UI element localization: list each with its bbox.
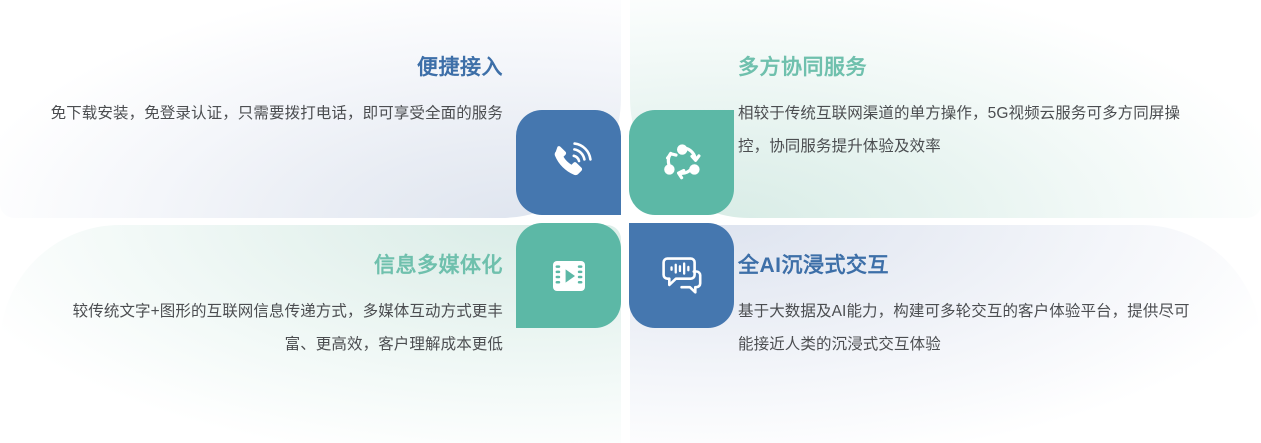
feature-description: 相较于传统互联网渠道的单方操作，5G视频云服务可多方同屏操控，协同服务提升体验及…: [738, 97, 1193, 163]
feature-description: 较传统文字+图形的互联网信息传递方式，多媒体互动方式更丰富、更高效，客户理解成本…: [48, 295, 503, 361]
feature-title: 全AI沉浸式交互: [738, 255, 1193, 276]
feature-text-multiparty-collaboration: 多方协同服务 相较于传统互联网渠道的单方操作，5G视频云服务可多方同屏操控，协同…: [738, 57, 1193, 163]
phone-call-icon: [543, 137, 595, 189]
feature-description: 基于大数据及AI能力，构建可多轮交互的客户体验平台，提供尽可能接近人类的沉浸式交…: [738, 295, 1193, 361]
feature-text-full-ai-immersive: 全AI沉浸式交互 基于大数据及AI能力，构建可多轮交互的客户体验平台，提供尽可能…: [738, 255, 1193, 361]
video-play-icon: [544, 251, 594, 301]
feature-title: 多方协同服务: [738, 57, 1193, 78]
feature-text-convenient-access: 便捷接入 免下载安装，免登录认证，只需要拨打电话，即可享受全面的服务: [48, 57, 503, 130]
feature-grid: 便捷接入 免下载安装，免登录认证，只需要拨打电话，即可享受全面的服务 多方协同服…: [0, 0, 1261, 443]
feature-icon-tile-convenient-access[interactable]: [516, 110, 621, 215]
feature-icon-tile-information-multimedia[interactable]: [516, 223, 621, 328]
feature-description: 免下载安装，免登录认证，只需要拨打电话，即可享受全面的服务: [48, 97, 503, 130]
feature-title: 便捷接入: [48, 57, 503, 78]
feature-title: 信息多媒体化: [48, 255, 503, 276]
feature-icon-tile-full-ai-immersive[interactable]: [629, 223, 734, 328]
feature-icon-tile-multiparty-collaboration[interactable]: [629, 110, 734, 215]
collaboration-cycle-icon: [656, 137, 708, 189]
feature-text-information-multimedia: 信息多媒体化 较传统文字+图形的互联网信息传递方式，多媒体互动方式更丰富、更高效…: [48, 255, 503, 361]
chat-voice-icon: [656, 250, 708, 302]
